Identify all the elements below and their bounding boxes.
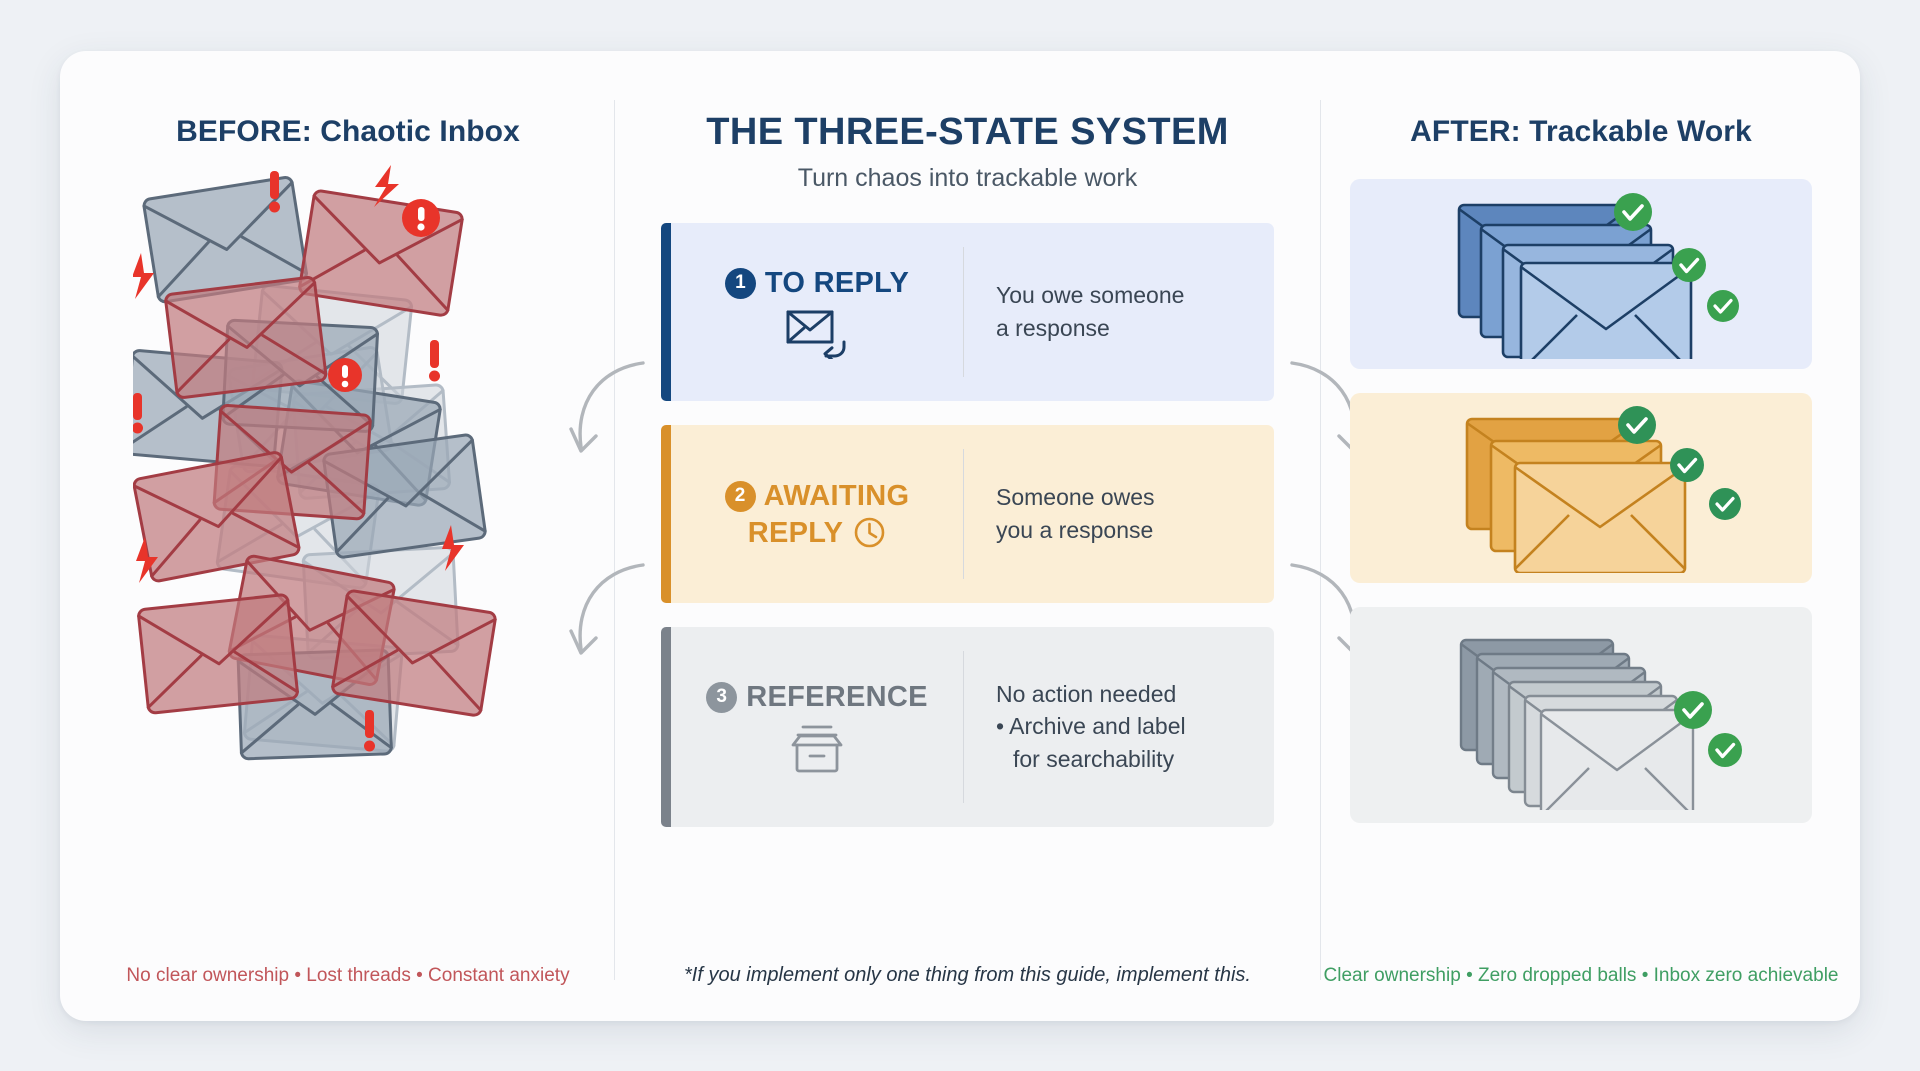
page-title: THE THREE-STATE SYSTEM bbox=[706, 111, 1229, 154]
desc-line: Someone owes bbox=[996, 481, 1155, 514]
awaiting-label-group: 2 AWAITING REPLY bbox=[671, 425, 963, 603]
after-title: AFTER: Trackable Work bbox=[1410, 115, 1752, 149]
center-column: THE THREE-STATE SYSTEM Turn chaos into t… bbox=[615, 85, 1320, 995]
state-cards: 1 TO REPLY bbox=[661, 223, 1274, 827]
awaiting-envelope-stack bbox=[1381, 403, 1781, 573]
desc-line: for searchability bbox=[996, 743, 1186, 776]
before-column: BEFORE: Chaotic Inbox bbox=[82, 85, 614, 995]
state-label-reference: REFERENCE bbox=[746, 680, 928, 714]
state-card-to-reply[interactable]: 1 TO REPLY bbox=[661, 223, 1274, 401]
after-footer: Clear ownership • Zero dropped balls • I… bbox=[1321, 965, 1841, 987]
state-number-badge: 2 bbox=[725, 481, 756, 512]
after-panel-awaiting bbox=[1350, 393, 1812, 583]
to-reply-label-group: 1 TO REPLY bbox=[671, 223, 963, 401]
page-root: BEFORE: Chaotic Inbox bbox=[0, 0, 1920, 1071]
state-label-to-reply: TO REPLY bbox=[765, 266, 909, 300]
after-panel-reference bbox=[1350, 607, 1812, 823]
chaotic-envelope-pile bbox=[133, 165, 563, 830]
state-label-awaiting-line2: REPLY bbox=[748, 516, 844, 550]
reference-label-group: 3 REFERENCE bbox=[671, 627, 963, 827]
after-panels bbox=[1350, 179, 1812, 823]
accent-bar-to-reply bbox=[661, 223, 671, 401]
desc-line: • Archive and label bbox=[996, 710, 1186, 743]
state-card-awaiting-reply[interactable]: 2 AWAITING REPLY bbox=[661, 425, 1274, 603]
after-panel-to-reply bbox=[1350, 179, 1812, 369]
awaiting-description: Someone owes you a response bbox=[964, 425, 1274, 603]
state-number-badge: 3 bbox=[706, 682, 737, 713]
envelope-reply-icon bbox=[786, 309, 848, 359]
after-column: AFTER: Trackable Work bbox=[1321, 85, 1841, 995]
infographic-board: BEFORE: Chaotic Inbox bbox=[60, 51, 1860, 1021]
state-card-reference[interactable]: 3 REFERENCE bbox=[661, 627, 1274, 827]
desc-line: you a response bbox=[996, 514, 1155, 547]
to-reply-envelope-stack bbox=[1381, 189, 1781, 359]
state-label-awaiting-line1: AWAITING bbox=[764, 479, 910, 513]
chaotic-inbox-illustration bbox=[133, 165, 563, 825]
to-reply-description: You owe someone a response bbox=[964, 223, 1274, 401]
before-title: BEFORE: Chaotic Inbox bbox=[176, 115, 520, 149]
reference-description: No action needed • Archive and label for… bbox=[964, 627, 1274, 827]
desc-line: a response bbox=[996, 312, 1184, 345]
page-subtitle: Turn chaos into trackable work bbox=[798, 164, 1138, 193]
archive-box-icon bbox=[789, 723, 845, 775]
reference-envelope-stack bbox=[1381, 620, 1781, 810]
accent-bar-awaiting-reply bbox=[661, 425, 671, 603]
center-footer: *If you implement only one thing from th… bbox=[615, 964, 1320, 987]
state-number-badge: 1 bbox=[725, 268, 756, 299]
clock-icon bbox=[853, 516, 886, 549]
desc-line: No action needed bbox=[996, 678, 1186, 711]
desc-line: You owe someone bbox=[996, 279, 1184, 312]
accent-bar-reference bbox=[661, 627, 671, 827]
before-footer: No clear ownership • Lost threads • Cons… bbox=[82, 965, 614, 987]
